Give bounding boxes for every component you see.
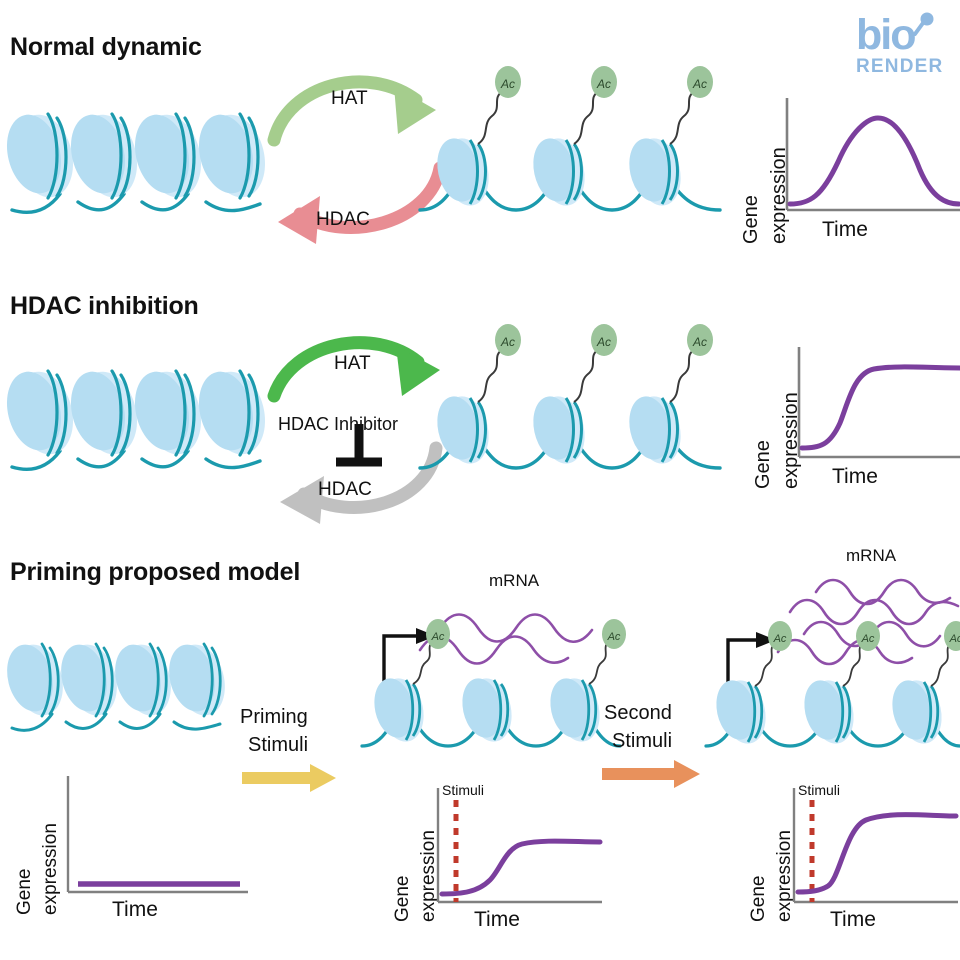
open-chromatin-hdac-inhibition: Ac Ac Ac (420, 320, 730, 480)
panel-title-priming-model: Priming proposed model (10, 558, 300, 587)
chart-normal-dynamic: Gene expression Time (726, 96, 960, 246)
chromatin-priming-primed: Ac Ac (362, 588, 622, 758)
svg-text:Ac: Ac (861, 633, 875, 645)
closed-chromatin-normal-dynamic (8, 98, 278, 223)
svg-text:Ac: Ac (949, 633, 960, 645)
svg-text:Ac: Ac (692, 335, 707, 349)
chart-hdac-inhibition-ylabel-gene: Gene (752, 440, 775, 489)
open-chromatin-normal-dynamic: Ac Ac Ac (420, 62, 730, 222)
svg-text:Ac: Ac (500, 335, 515, 349)
svg-text:Ac: Ac (773, 633, 787, 645)
priming-stimuli-label-line2: Stimuli (248, 734, 308, 757)
chart-priming-restimulated-plot (788, 784, 960, 912)
figure-canvas: bio RENDER Normal dynamic (0, 0, 960, 960)
chart-priming-naive-plot (54, 772, 250, 900)
transition-priming-stimuli: Priming Stimuli (236, 706, 340, 786)
second-stimuli-label-line2: Stimuli (612, 730, 672, 753)
svg-text:Ac: Ac (500, 77, 515, 91)
chart-priming-restimulated-xlabel: Time (830, 908, 876, 932)
chromatin-priming-naive (8, 630, 238, 740)
svg-text:Ac: Ac (596, 77, 611, 91)
chart-hdac-inhibition-plot (794, 345, 960, 473)
second-stimuli-label-line1: Second (604, 702, 672, 725)
chromatin-priming-restimulated: Ac Ac Ac (706, 560, 960, 760)
hdac-arrow-normal-dynamic (278, 168, 440, 244)
chart-priming-naive-xlabel: Time (112, 898, 158, 922)
priming-stimuli-arrow-icon (242, 764, 338, 794)
chart-normal-dynamic-xlabel: Time (822, 218, 868, 242)
hdac-label-normal-dynamic: HDAC (316, 209, 370, 231)
svg-text:Ac: Ac (692, 77, 707, 91)
chart-hdac-inhibition: Gene expression Time (740, 345, 960, 495)
transition-second-stimuli: Second Stimuli (600, 702, 710, 782)
hdac-label-hdac-inhibition: HDAC (318, 479, 372, 501)
hat-label-hdac-inhibition: HAT (334, 353, 371, 375)
chart-priming-primed-ylabel-gene: Gene (392, 876, 414, 922)
second-stimuli-arrow-icon (602, 760, 702, 790)
hat-label-normal-dynamic: HAT (331, 88, 368, 110)
hdac-inhibitor-label: HDAC Inhibitor (278, 414, 398, 435)
chart-normal-dynamic-ylabel-gene: Gene (740, 195, 763, 244)
chart-priming-naive-ylabel-gene: Gene (14, 869, 36, 915)
chart-normal-dynamic-plot (782, 96, 960, 224)
svg-text:Ac: Ac (607, 631, 621, 643)
panel-title-normal-dynamic: Normal dynamic (10, 33, 202, 62)
biorender-logo-render-text: RENDER (856, 57, 956, 76)
chart-priming-primed-plot (432, 784, 604, 912)
chart-priming-primed-xlabel: Time (474, 908, 520, 932)
priming-stimuli-label-line1: Priming (240, 706, 308, 729)
panel-title-hdac-inhibition: HDAC inhibition (10, 292, 199, 321)
svg-text:Ac: Ac (596, 335, 611, 349)
biorender-logo: bio RENDER (856, 14, 956, 94)
svg-text:Ac: Ac (431, 631, 445, 643)
chart-priming-naive: Gene expression Time (4, 770, 254, 930)
biorender-logo-node-icon (902, 12, 936, 40)
chart-priming-restimulated: Gene expression Stimuli Time (740, 782, 960, 942)
closed-chromatin-hdac-inhibition (8, 355, 278, 480)
chart-priming-restimulated-ylabel-gene: Gene (748, 876, 770, 922)
chart-priming-primed: Gene expression Stimuli Time (384, 782, 604, 942)
chart-hdac-inhibition-xlabel: Time (832, 465, 878, 489)
